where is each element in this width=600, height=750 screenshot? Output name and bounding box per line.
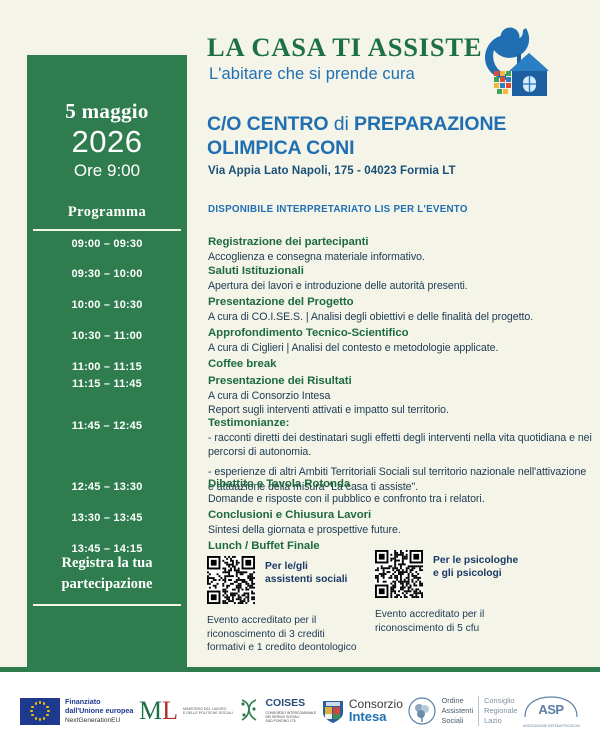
eu-star-icon: [46, 706, 48, 708]
oas-text: Ordine Assistenti Sociali: [441, 696, 473, 725]
oas-r3: Lazio: [484, 716, 502, 725]
casa-ti-assiste-logo-icon: [479, 24, 555, 102]
eu-star-icon: [31, 714, 33, 716]
ml-sub1: MINISTERO DEL LAVORO: [183, 707, 227, 711]
ml-letter-m: M: [139, 696, 162, 725]
intesa-line2: Intesa: [349, 709, 387, 724]
footer-logo-strip: Finanziato dall'Unione europea NextGener…: [0, 672, 600, 750]
coises-name: COISES: [265, 698, 316, 709]
qr-note-1: Evento accreditato per ilriconoscimento …: [375, 608, 484, 635]
event-poster: 5 maggio 2026 Ore 9:00 Programma 09:00 –…: [0, 0, 600, 750]
program-item-desc-7-0: Domande e risposte con il pubblico e con…: [208, 492, 593, 506]
qr-note-line-1: riconoscimento di 5 cfu: [375, 623, 479, 634]
program-item-title-3: Approfondimento Tecnico-Scientifico: [208, 326, 593, 341]
program-item: Conclusioni e Chiusura LavoriSintesi del…: [208, 508, 593, 537]
program-item-title-4: Coffee break: [208, 357, 593, 372]
venue-name: C/O CENTRO di PREPARAZIONE OLIMPICA CONI: [207, 113, 567, 161]
asp-arc-icon: ASP: [523, 695, 579, 719]
program-item-desc-6-0: - racconti diretti dei destinatari sugli…: [208, 431, 593, 459]
program-item: Saluti IstituzionaliApertura dei lavori …: [208, 264, 593, 293]
lis-availability-note: DISPONIBILE INTERPRETARIATO LIS PER L'EV…: [208, 204, 468, 215]
event-year: 2026: [27, 125, 187, 158]
qr-head-l2: e gli psicologi: [433, 568, 502, 579]
qr-head-l1: Per le psicologhe: [433, 555, 518, 566]
eu-star-icon: [35, 702, 37, 704]
ml-sub2: E DELLE POLITICHE SOCIALI: [183, 711, 233, 715]
venue-line1-c: PREPARAZIONE: [354, 113, 506, 135]
eu-star-icon: [46, 714, 48, 716]
program-item: Presentazione dei RisultatiA cura di Con…: [208, 374, 593, 417]
date-block: 5 maggio 2026 Ore 9:00 Programma: [27, 100, 187, 231]
qr-heading-1: Per le psicologhee gli psicologi: [433, 554, 518, 581]
program-item-desc-3-0: A cura di Ciglieri | Analisi del contest…: [208, 341, 593, 355]
event-day: 5 maggio: [27, 100, 187, 123]
eu-flag-icon: [20, 698, 60, 725]
eu-star-icon: [47, 710, 49, 712]
ministero-lavoro-logo: ML MINISTERO DEL LAVORO E DELLE POLITICH…: [139, 698, 233, 724]
qr-head-l1: Per le/gli: [265, 561, 308, 572]
oas-r2: Regionale: [484, 706, 517, 715]
coises-dna-icon: [238, 698, 260, 724]
program-item-desc-8-0: Sintesi della giornata e prospettive fut…: [208, 523, 593, 537]
program-item-desc-0-0: Accoglienza e consegna materiale informa…: [208, 250, 593, 264]
ml-subtext: MINISTERO DEL LAVORO E DELLE POLITICHE S…: [183, 707, 233, 716]
intesa-text: Consorzio Intesa: [349, 698, 403, 724]
eu-funding-text: Finanziato dall'Unione europea NextGener…: [65, 697, 133, 725]
asp-logo: ASP ASSOCIAZIONE SISTEMA PSICOLOGI: [523, 695, 580, 728]
program-item: Registrazione dei partecipantiAccoglienz…: [208, 235, 593, 264]
qr-head-l2: assistenti sociali: [265, 574, 347, 585]
schedule-time-4: 11:00 – 11:15: [27, 361, 187, 373]
program-item-title-6: Testimonianze:: [208, 416, 593, 431]
qr-code-assistenti-sociali[interactable]: [207, 556, 255, 604]
oas-line2: Assistenti: [441, 706, 473, 715]
ml-letter-l: L: [162, 696, 178, 725]
poster-main-content: LA CASA TI ASSISTE L'abitare che si pren…: [207, 0, 600, 750]
page-subtitle: L'abitare che si prende cura: [209, 65, 415, 84]
coises-logo: COISES CONSORZIO INTERCOMUNALE DEI SERVI…: [238, 698, 316, 724]
oas-emblem-icon: [408, 697, 436, 725]
program-item: Dibattito e Tavola RotondaDomande e risp…: [208, 477, 593, 506]
eu-star-icon: [43, 702, 45, 704]
page-title: LA CASA TI ASSISTE: [207, 32, 482, 63]
eu-star-icon: [30, 710, 32, 712]
oas-regional-text: Consiglio Regionale Lazio: [478, 696, 517, 725]
program-item-title-5: Presentazione dei Risultati: [208, 374, 593, 389]
event-time: Ore 9:00: [27, 160, 187, 182]
eu-star-icon: [39, 718, 41, 720]
eu-line2: dall'Unione europea: [65, 706, 133, 715]
qr-block-1: Per le psicologhee gli psicologiEvento a…: [375, 550, 423, 598]
qr-note-line-2: formativi e 1 credito deontologico: [207, 642, 357, 653]
program-item-title-1: Saluti Istituzionali: [208, 264, 593, 279]
venue-line1-b: di: [334, 113, 354, 135]
eu-star-icon: [31, 706, 33, 708]
program-item-desc-2-0: A cura di CO.I.SE.S. | Analisi degli obi…: [208, 310, 593, 324]
schedule-time-1: 09:30 – 10:00: [27, 268, 187, 280]
schedule-time-8: 13:30 – 13:45: [27, 512, 187, 524]
coises-text-block: COISES CONSORZIO INTERCOMUNALE DEI SERVI…: [265, 698, 316, 724]
eu-line3: NextGenerationEU: [65, 717, 133, 725]
schedule-time-0: 09:00 – 09:30: [27, 238, 187, 250]
eu-star-icon: [39, 701, 41, 703]
program-item-title-7: Dibattito e Tavola Rotonda: [208, 477, 593, 492]
qr-note-0: Evento accreditato per ilriconoscimento …: [207, 614, 357, 655]
program-item-desc-1-0: Apertura dei lavori e introduzione delle…: [208, 279, 593, 293]
program-item-desc-5-0: A cura di Consorzio Intesa: [208, 389, 593, 403]
schedule-time-6: 11:45 – 12:45: [27, 420, 187, 432]
coises-sub1: CONSORZIO INTERCOMUNALE: [265, 711, 316, 715]
schedule-time-5: 11:15 – 11:45: [27, 378, 187, 390]
venue-address: Via Appia Lato Napoli, 175 - 04023 Formi…: [208, 165, 456, 177]
oas-line3: Sociali: [441, 716, 463, 725]
eu-star-icon: [35, 717, 37, 719]
qr-note-line-0: Evento accreditato per il: [207, 615, 316, 626]
program-item-title-2: Presentazione del Progetto: [208, 295, 593, 310]
ordine-assistenti-sociali-logo: Ordine Assistenti Sociali Consiglio Regi…: [408, 696, 517, 725]
coises-sub: CONSORZIO INTERCOMUNALE DEI SERVIZI SOCI…: [265, 711, 316, 724]
coises-sub2: DEI SERVIZI SOCIALI: [265, 715, 299, 719]
eu-star-icon: [43, 717, 45, 719]
venue-line2: OLIMPICA CONI: [207, 137, 354, 159]
eu-line1: Finanziato: [65, 697, 101, 706]
schedule-time-7: 12:45 – 13:30: [27, 481, 187, 493]
qr-note-line-1: riconoscimento di 3 crediti: [207, 629, 325, 640]
schedule-time-2: 10:00 – 10:30: [27, 299, 187, 311]
ml-monogram-icon: ML: [139, 698, 178, 724]
program-item: Approfondimento Tecnico-ScientificoA cur…: [208, 326, 593, 355]
qr-heading-0: Per le/gliassistenti sociali: [265, 560, 347, 587]
program-item: Coffee break: [208, 357, 593, 372]
program-item: Presentazione del ProgettoA cura di CO.I…: [208, 295, 593, 324]
oas-line1: Ordine: [441, 696, 463, 705]
program-item-title-8: Conclusioni e Chiusura Lavori: [208, 508, 593, 523]
consorzio-intesa-logo: Consorzio Intesa: [322, 698, 403, 724]
coises-sub3: SUD PONTINO LT5: [265, 719, 295, 723]
oas-r1: Consiglio: [484, 696, 514, 705]
venue-line1-a: C/O CENTRO: [207, 113, 334, 135]
programma-heading: Programma: [33, 204, 181, 231]
intesa-shield-icon: [322, 698, 344, 724]
asp-subtext: ASSOCIAZIONE SISTEMA PSICOLOGI: [523, 724, 580, 728]
program-item-title-0: Registrazione dei partecipanti: [208, 235, 593, 250]
schedule-time-3: 10:30 – 11:00: [27, 330, 187, 342]
qr-block-0: Per le/gliassistenti socialiEvento accre…: [207, 556, 255, 604]
svg-text:ASP: ASP: [539, 702, 565, 717]
qr-code-psicologi[interactable]: [375, 550, 423, 598]
qr-note-line-0: Evento accreditato per il: [375, 609, 484, 620]
register-cta[interactable]: Registra la tua partecipazione: [33, 553, 181, 606]
eu-funding-logo: Finanziato dall'Unione europea NextGener…: [20, 697, 133, 725]
